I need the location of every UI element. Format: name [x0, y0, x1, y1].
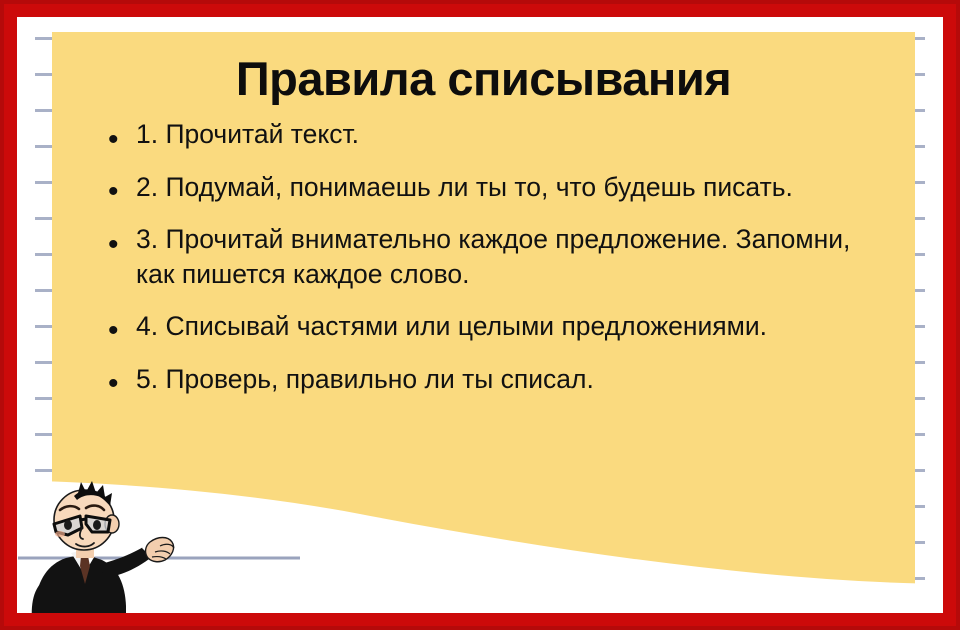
rule-item: •3. Прочитай внимательно каждое предложе… — [104, 222, 891, 291]
rules-list: •1. Прочитай текст.•2. Подумай, понимаеш… — [52, 107, 915, 396]
character-hand — [146, 538, 174, 562]
bullet-icon: • — [108, 120, 119, 159]
rule-item-text: 5. Проверь, правильно ли ты списал. — [136, 364, 594, 394]
rule-item-text: 1. Прочитай текст. — [136, 119, 359, 149]
rule-item-text: 3. Прочитай внимательно каждое предложен… — [136, 224, 850, 288]
rule-item-text: 4. Списывай частями или целыми предложен… — [136, 311, 767, 341]
rule-item: •1. Прочитай текст. — [104, 117, 891, 151]
slide-root: Правила списывания •1. Прочитай текст.•2… — [0, 0, 960, 630]
page-title: Правила списывания — [52, 32, 915, 107]
bullet-icon: • — [108, 172, 119, 211]
rule-item: •4. Списывай частями или целыми предложе… — [104, 309, 891, 343]
bullet-icon: • — [108, 225, 119, 264]
rule-item-text: 2. Подумай, понимаешь ли ты то, что буде… — [136, 172, 793, 202]
bullet-icon: • — [108, 364, 119, 403]
cartoon-teacher-pointing — [22, 480, 182, 630]
character-head — [54, 481, 119, 550]
rule-item: •2. Подумай, понимаешь ли ты то, что буд… — [104, 170, 891, 204]
bullet-icon: • — [108, 311, 119, 350]
rule-item: •5. Проверь, правильно ли ты списал. — [104, 362, 891, 396]
